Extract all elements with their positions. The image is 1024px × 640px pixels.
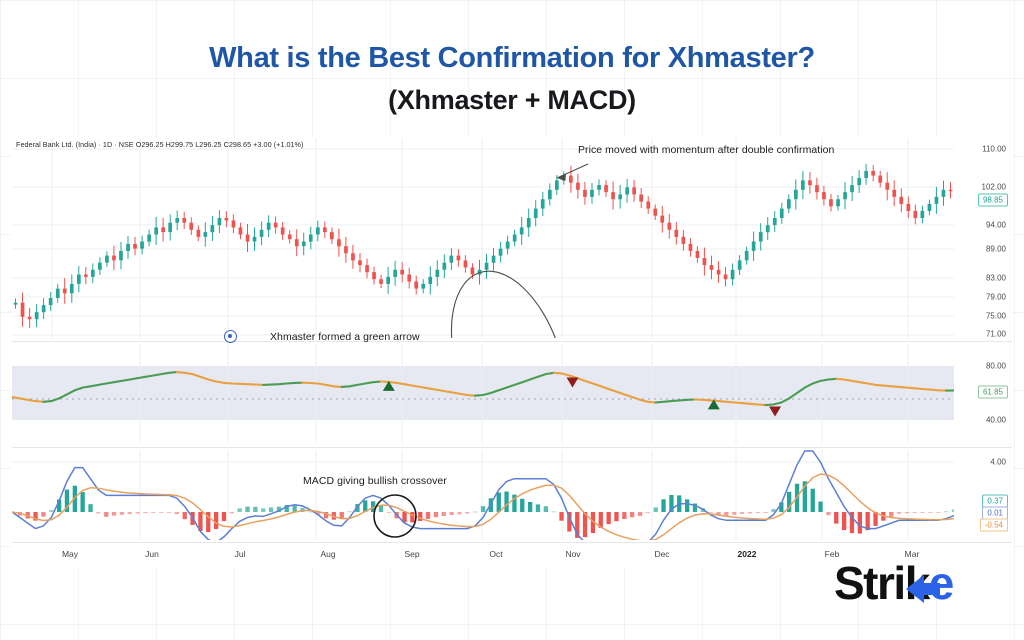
price-panel[interactable]: 110.00 102.00 94.00 89.00 83.00 79.00 75… [12, 138, 1012, 338]
poster-page: What is the Best Confirmation for Xhmast… [0, 0, 1024, 640]
annotation-price-note: Price moved with momentum after double c… [578, 144, 834, 156]
xhmaster-panel[interactable]: 80.00 40.00 61.85 [12, 344, 1012, 444]
candle-series [14, 164, 953, 328]
logo-arrow-icon [884, 572, 940, 606]
xtick-jun: Jun [145, 549, 159, 559]
annotation-xhmaster-note: Xhmaster formed a green arrow [270, 331, 420, 343]
xtick-nov: Nov [565, 549, 580, 559]
chart-symbol-header: Federal Bank Ltd. (India) · 1D · NSE O29… [16, 140, 303, 149]
price-tick-7: 71.00 [986, 330, 1006, 339]
page-subtitle: (Xhmaster + MACD) [0, 85, 1024, 116]
page-title: What is the Best Confirmation for Xhmast… [0, 40, 1024, 76]
candlestick-svg [12, 138, 954, 338]
target-circle-icon [224, 330, 237, 343]
price-tick-1: 102.00 [982, 183, 1006, 192]
price-tick-4: 83.00 [986, 274, 1006, 283]
macd-tick-0: 4.00 [990, 458, 1006, 467]
xhmaster-axis: 80.00 40.00 61.85 [954, 344, 1012, 444]
heading-block: What is the Best Confirmation for Xhmast… [0, 40, 1024, 116]
xtick-oct: Oct [489, 549, 502, 559]
osc-current-value: 61.85 [978, 386, 1008, 399]
price-plot[interactable] [12, 138, 954, 338]
price-axis: 110.00 102.00 94.00 89.00 83.00 79.00 75… [954, 138, 1012, 338]
panel-divider-2 [12, 447, 1012, 448]
oscillator-band [12, 366, 954, 420]
osc-tick-1: 40.00 [986, 416, 1006, 425]
macd-axis: 4.00 0.37 0.01 -0.54 [954, 450, 1012, 540]
trading-chart[interactable]: Federal Bank Ltd. (India) · 1D · NSE O29… [12, 138, 1012, 568]
osc-tick-0: 80.00 [986, 362, 1006, 371]
xtick-2022: 2022 [738, 549, 757, 559]
macd-panel[interactable]: 4.00 0.37 0.01 -0.54 [12, 450, 1012, 540]
xtick-aug: Aug [320, 549, 335, 559]
price-current-value: 98.85 [978, 194, 1008, 207]
xtick-dec: Dec [654, 549, 669, 559]
macd-signal-value: -0.54 [980, 519, 1008, 532]
annotation-macd-note: MACD giving bullish crossover [303, 475, 447, 487]
price-tick-0: 110.00 [982, 145, 1006, 154]
price-tick-5: 79.00 [986, 293, 1006, 302]
xtick-jul: Jul [235, 549, 246, 559]
price-tick-6: 75.00 [986, 312, 1006, 321]
macd-plot[interactable] [12, 450, 954, 540]
macd-histogram [12, 481, 954, 538]
panel-divider-1 [12, 341, 1012, 342]
xhmaster-plot[interactable] [12, 344, 954, 444]
xtick-may: May [62, 549, 78, 559]
macd-svg [12, 450, 954, 540]
price-tick-2: 94.00 [986, 221, 1006, 230]
xtick-sep: Sep [404, 549, 419, 559]
price-tick-3: 89.00 [986, 245, 1006, 254]
xhmaster-svg [12, 344, 954, 444]
